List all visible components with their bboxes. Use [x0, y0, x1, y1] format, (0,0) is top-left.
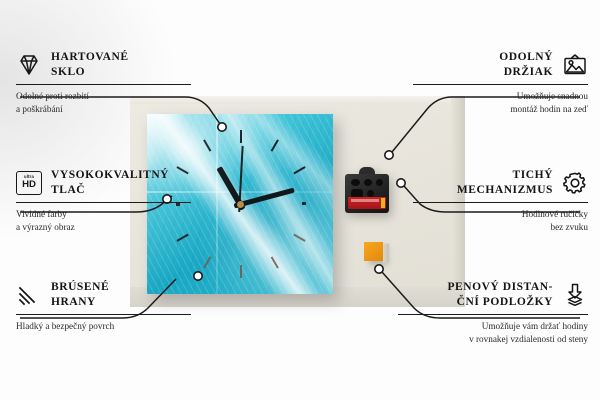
feature-subtitle-line2: v rovnakej vzdialenosti od steny — [398, 333, 588, 345]
feature-title-line1: PENOVÝ DISTAN- — [447, 280, 553, 295]
feature-subtitle-line2: bez zvuku — [413, 221, 588, 233]
feature-subtitle: Umožňuje snadnou montáž hodin na zeď — [413, 90, 588, 115]
mechanism-detail — [367, 190, 374, 197]
feature-divider — [413, 84, 588, 85]
feature-header: HARTOVANÉ SKLO — [16, 50, 191, 79]
diamond-icon — [16, 52, 42, 78]
feature-silent-mechanism: TICHÝ MECHANIZMUS Hodinové ručičky bez z… — [413, 168, 588, 233]
gear-icon — [562, 170, 588, 196]
feature-title-line2: MECHANIZMUS — [457, 183, 553, 198]
feature-title-line1: BRÚSENÉ — [51, 280, 109, 295]
feature-divider — [398, 314, 588, 315]
feature-title-line1: TICHÝ — [457, 168, 553, 183]
feature-title: BRÚSENÉ HRANY — [51, 280, 109, 309]
feature-subtitle-line1: Umožňuje vám držať hodiny — [398, 320, 588, 332]
feature-divider — [16, 84, 191, 85]
wall-hanger-icon — [562, 52, 588, 78]
infographic-canvas: HARTOVANÉ SKLO Odolné proti rozbití a po… — [0, 0, 600, 400]
feature-subtitle: Hladký a bezpečný povrch — [16, 320, 191, 332]
feature-title-line1: ODOLNÝ — [499, 50, 553, 65]
feature-subtitle: Odolné proti rozbití a poškrábání — [16, 90, 191, 115]
feature-title-line2: HRANY — [51, 295, 109, 310]
feature-title-line2: TLAČ — [51, 183, 169, 198]
feature-title: ODOLNÝ DRŽIAK — [499, 50, 553, 79]
feature-foam-spacers: PENOVÝ DISTAN- ČNÍ PODLOŽKY Umožňuje vám… — [398, 280, 588, 345]
feature-header: ultra HD VYSOKOKVALITNÝ TLAČ — [16, 168, 191, 197]
battery — [348, 197, 386, 209]
feature-title-line2: ČNÍ PODLOŽKY — [447, 295, 553, 310]
feature-subtitle-line1: Odolné proti rozbití — [16, 90, 191, 102]
feature-title-line1: VYSOKOKVALITNÝ — [51, 168, 169, 183]
feature-high-quality-print: ultra HD VYSOKOKVALITNÝ TLAČ Vividné far… — [16, 168, 191, 233]
feature-subtitle-line2: a výrazný obraz — [16, 221, 191, 233]
mechanism-detail — [364, 179, 372, 186]
feature-subtitle-line1: Hodinové ručičky — [413, 208, 588, 220]
feature-title-line1: HARTOVANÉ — [51, 50, 129, 65]
feature-title: HARTOVANÉ SKLO — [51, 50, 129, 79]
feature-title: PENOVÝ DISTAN- ČNÍ PODLOŽKY — [447, 280, 553, 309]
mechanism-detail — [376, 179, 383, 186]
foam-spacer-side — [383, 243, 389, 263]
feature-header: TICHÝ MECHANIZMUS — [413, 168, 588, 197]
hd-badge-box: ultra HD — [16, 171, 42, 195]
polished-edges-icon — [16, 282, 42, 308]
feature-divider — [413, 202, 588, 203]
feature-subtitle: Vividné farby a výrazný obraz — [16, 208, 191, 233]
mechanism-detail — [351, 179, 360, 186]
foam-spacer-pad — [364, 242, 383, 261]
feature-subtitle: Umožňuje vám držať hodiny v rovnakej vzd… — [398, 320, 588, 345]
hd-badge-hd-label: HD — [22, 180, 36, 190]
feature-subtitle-line2: a poškrábání — [16, 103, 191, 115]
feature-subtitle-line1: Umožňuje snadnou — [413, 90, 588, 102]
feature-title: TICHÝ MECHANIZMUS — [457, 168, 553, 197]
feature-durable-holder: ODOLNÝ DRŽIAK Umožňuje snadnou montáž ho… — [413, 50, 588, 115]
feature-header: PENOVÝ DISTAN- ČNÍ PODLOŽKY — [398, 280, 588, 309]
feature-subtitle-line1: Hladký a bezpečný povrch — [16, 320, 191, 332]
feature-title-line2: DRŽIAK — [499, 65, 553, 80]
clock-mechanism — [345, 167, 389, 213]
feature-subtitle-line2: montáž hodin na zeď — [413, 103, 588, 115]
feature-header: BRÚSENÉ HRANY — [16, 280, 191, 309]
mechanism-housing — [345, 174, 389, 213]
ultra-hd-badge-icon: ultra HD — [16, 170, 42, 196]
feature-title: VYSOKOKVALITNÝ TLAČ — [51, 168, 169, 197]
feature-subtitle-line1: Vividné farby — [16, 208, 191, 220]
feature-header: ODOLNÝ DRŽIAK — [413, 50, 588, 79]
feature-title-line2: SKLO — [51, 65, 129, 80]
feature-divider — [16, 314, 191, 315]
feature-divider — [16, 202, 191, 203]
feature-subtitle: Hodinové ručičky bez zvuku — [413, 208, 588, 233]
feature-tempered-glass: HARTOVANÉ SKLO Odolné proti rozbití a po… — [16, 50, 191, 115]
feature-polished-edges: BRÚSENÉ HRANY Hladký a bezpečný povrch — [16, 280, 191, 333]
foam-spacer-icon — [562, 282, 588, 308]
